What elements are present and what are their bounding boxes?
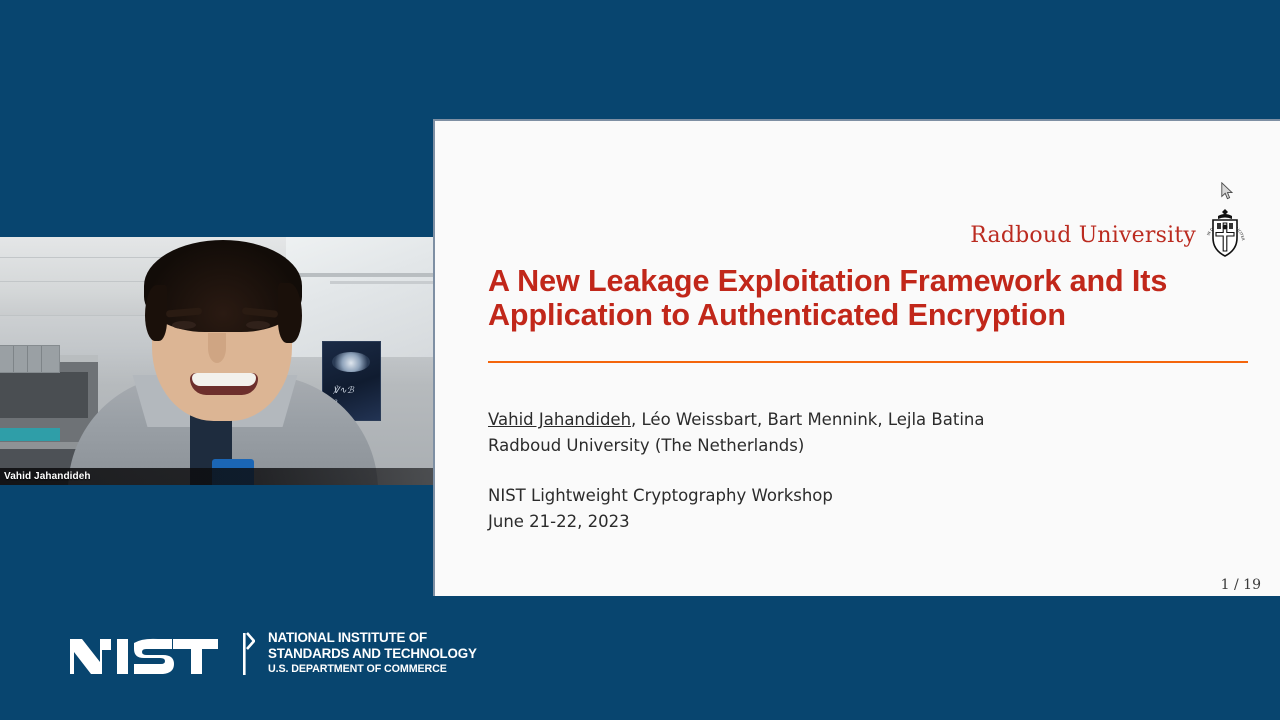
person-eye-right bbox=[246, 321, 270, 329]
person-eye-left bbox=[172, 321, 196, 329]
nist-text-line-1: NATIONAL INSTITUTE OF bbox=[268, 630, 477, 646]
slide-title-line-2: Application to Authenticated Encryption bbox=[488, 298, 1208, 332]
screen-root: ℣∿ℬℴ Vahid Jahandideh Radboud University bbox=[0, 0, 1280, 720]
poster-eye-graphic bbox=[332, 352, 370, 372]
shelf-inner bbox=[0, 372, 88, 418]
window-frame-2 bbox=[330, 281, 433, 284]
presentation-slide[interactable]: Radboud University IN DEO OMNIA FELICITE… bbox=[433, 119, 1280, 596]
title-divider-rule bbox=[488, 361, 1248, 363]
coauthors: , Léo Weissbart, Bart Mennink, Lejla Bat… bbox=[631, 410, 984, 429]
participant-name-bar: Vahid Jahandideh bbox=[0, 468, 433, 485]
nist-logo: NATIONAL INSTITUTE OF STANDARDS AND TECH… bbox=[68, 630, 477, 678]
nist-text-line-2: STANDARDS AND TECHNOLOGY bbox=[268, 646, 477, 662]
slide-canvas: Radboud University IN DEO OMNIA FELICITE… bbox=[435, 121, 1280, 596]
slide-page-indicator: 1 / 19 bbox=[1221, 577, 1261, 593]
dates-line: June 21-22, 2023 bbox=[488, 509, 1228, 535]
video-window bbox=[286, 237, 433, 357]
person-nose bbox=[208, 333, 226, 363]
person-teeth bbox=[192, 373, 256, 386]
video-tile[interactable]: ℣∿ℬℴ Vahid Jahandideh bbox=[0, 237, 433, 485]
slide-metadata: Vahid Jahandideh, Léo Weissbart, Bart Me… bbox=[488, 407, 1228, 535]
slide-title-line-1: A New Leakage Exploitation Framework and… bbox=[488, 264, 1208, 298]
nist-agency-text: NATIONAL INSTITUTE OF STANDARDS AND TECH… bbox=[268, 630, 477, 678]
window-frame-1 bbox=[290, 273, 433, 277]
shelf-object-teal bbox=[0, 428, 60, 441]
slide-title: A New Leakage Exploitation Framework and… bbox=[488, 264, 1208, 332]
university-name: Radboud University bbox=[970, 223, 1196, 248]
venue-line: NIST Lightweight Cryptography Workshop bbox=[488, 483, 1228, 509]
person-hair-left bbox=[145, 285, 167, 341]
paper-trays bbox=[0, 345, 60, 373]
nist-divider-bracket-icon bbox=[241, 630, 255, 678]
presenting-author: Vahid Jahandideh bbox=[488, 410, 631, 429]
radboud-crest-icon: IN DEO OMNIA FELICITER bbox=[1204, 206, 1246, 264]
person-mouth bbox=[190, 373, 258, 395]
participant-name-label: Vahid Jahandideh bbox=[0, 471, 91, 482]
nist-text-line-3: U.S. DEPARTMENT OF COMMERCE bbox=[268, 662, 477, 678]
university-branding: Radboud University IN DEO OMNIA FELICITE… bbox=[970, 206, 1246, 264]
nist-wordmark-icon bbox=[68, 630, 228, 678]
author-line: Vahid Jahandideh, Léo Weissbart, Bart Me… bbox=[488, 407, 1228, 433]
affiliation-line: Radboud University (The Netherlands) bbox=[488, 433, 1228, 459]
